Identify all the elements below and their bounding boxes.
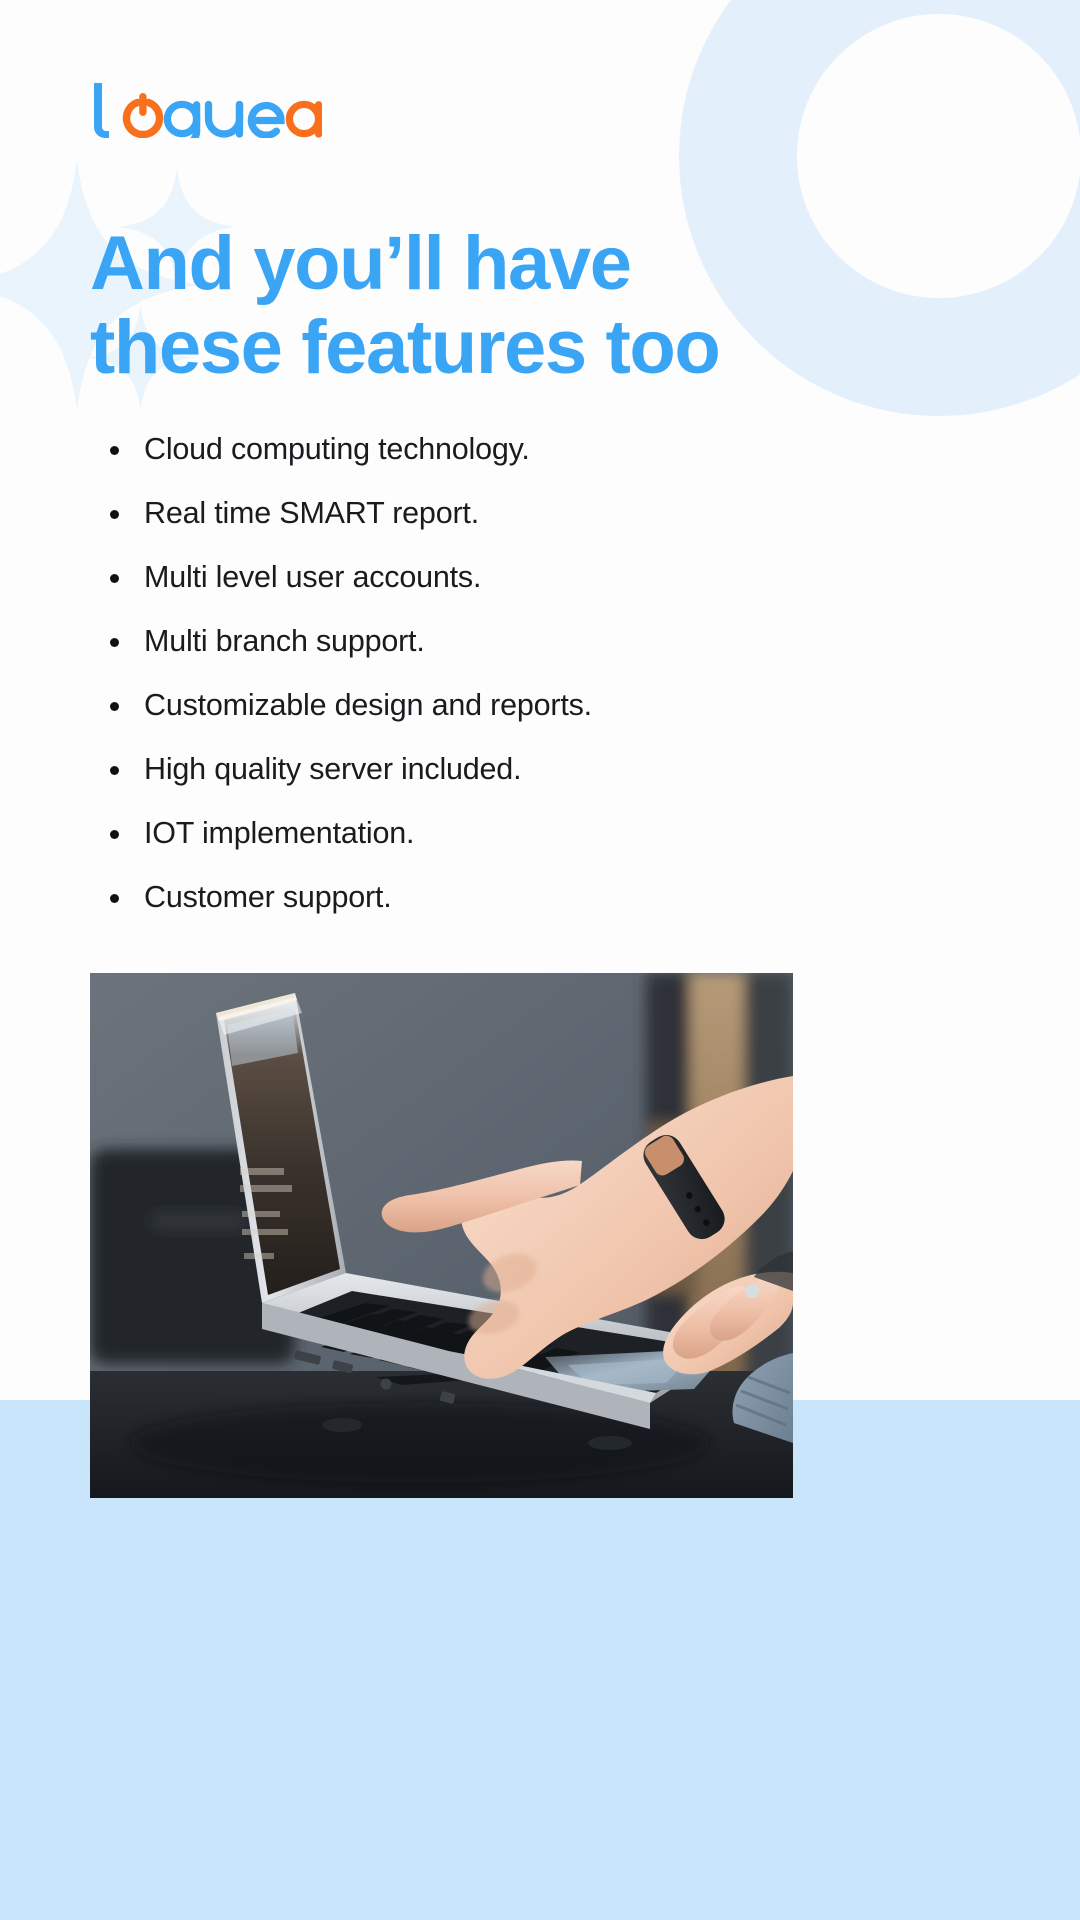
logo-letter-e [251,106,281,136]
feature-label: Customer support. [144,880,391,914]
list-item: Customer support. [104,880,824,915]
bullet-icon [110,702,119,711]
list-item: Multi level user accounts. [104,560,824,595]
list-item: High quality server included. [104,752,824,787]
bullet-icon [110,510,119,519]
list-item: Real time SMART report. [104,496,824,531]
bullet-icon [110,830,119,839]
feature-label: Real time SMART report. [144,496,479,530]
headline-line-1: And you’ll have [90,222,770,306]
feature-label: Customizable design and reports. [144,688,592,722]
headline-line-2: these features too [90,306,770,390]
list-item: Customizable design and reports. [104,688,824,723]
bullet-icon [110,638,119,647]
bullet-icon [110,574,119,583]
feature-label: Cloud computing technology. [144,432,530,466]
feature-label: High quality server included. [144,752,521,786]
logo-letter-l [94,83,109,138]
logo-letter-a [289,104,318,134]
feature-label: Multi branch support. [144,624,425,658]
logo-power-bar [139,93,146,116]
logo-letter-g [167,104,196,138]
brand-logo[interactable] [90,80,322,138]
page-title: And you’ll have these features too [90,222,770,391]
poster-canvas: And you’ll have these features too Cloud… [0,0,1080,1920]
logo-letter-u [209,105,240,135]
feature-list: Cloud computing technology. Real time SM… [104,432,824,916]
list-item: Cloud computing technology. [104,432,824,467]
bullet-icon [110,894,119,903]
feature-label: IOT implementation. [144,816,414,850]
list-item: IOT implementation. [104,816,824,851]
hero-photo [90,973,793,1498]
bullet-icon [110,446,119,455]
list-item: Multi branch support. [104,624,824,659]
bullet-icon [110,766,119,775]
feature-label: Multi level user accounts. [144,560,481,594]
